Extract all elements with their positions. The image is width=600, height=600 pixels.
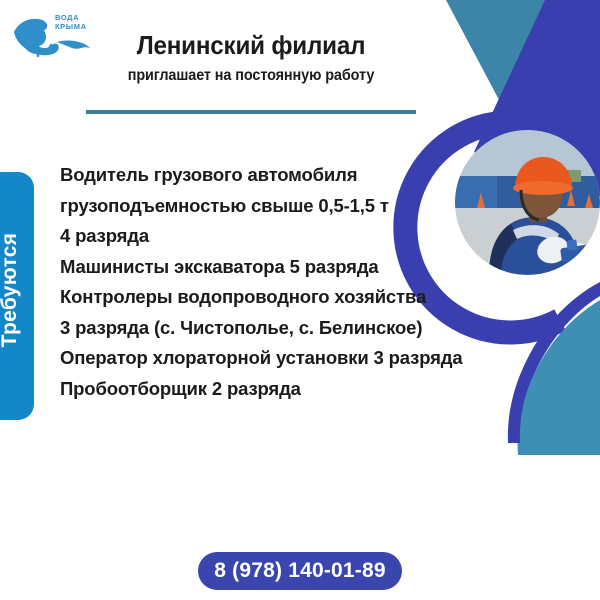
page-subtitle: приглашает на постоянную работу: [98, 67, 405, 85]
indigo-swoosh: [508, 282, 600, 443]
teal-swoosh: [518, 300, 600, 455]
teal-corner-shape: [446, 0, 600, 128]
phone-banner[interactable]: 8 (978) 140-01-89: [198, 552, 402, 590]
vacancy-line: Водитель грузового автомобиля: [60, 160, 480, 191]
vacancy-line: 4 разряда: [60, 221, 480, 252]
header-block: Ленинский филиал приглашает на постоянну…: [86, 30, 416, 85]
vacancy-line: Контролеры водопроводного хозяйства: [60, 282, 480, 313]
vacancy-list: Водитель грузового автомобиля грузоподъе…: [60, 160, 480, 404]
job-advert-poster: ВОДА КРЫМА Ленинский филиал приглашает н…: [0, 0, 600, 600]
vacancy-line: Оператор хлораторной установки 3 разряда: [60, 343, 480, 374]
brand-logo-line1: ВОДА: [55, 13, 87, 22]
vacancy-line: Пробоотборщик 2 разряда: [60, 374, 480, 405]
vacancy-line: Машинисты экскаватора 5 разряда: [60, 252, 480, 283]
worker-photo: [455, 130, 600, 275]
required-tab: Требуются: [0, 172, 34, 420]
phone-number: 8 (978) 140-01-89: [214, 559, 386, 583]
brand-logo-text: ВОДА КРЫМА: [55, 13, 87, 31]
vacancy-line: 3 разряда (с. Чистополье, с. Белинское): [60, 313, 480, 344]
required-tab-label: Требуются: [0, 233, 22, 360]
header-divider: [86, 110, 416, 114]
worker-photo-illustration: [455, 130, 600, 275]
brand-logo-line2: КРЫМА: [55, 22, 87, 31]
page-title: Ленинский филиал: [98, 30, 405, 60]
vacancy-line: грузоподъемностью свыше 0,5-1,5 т: [60, 191, 480, 222]
